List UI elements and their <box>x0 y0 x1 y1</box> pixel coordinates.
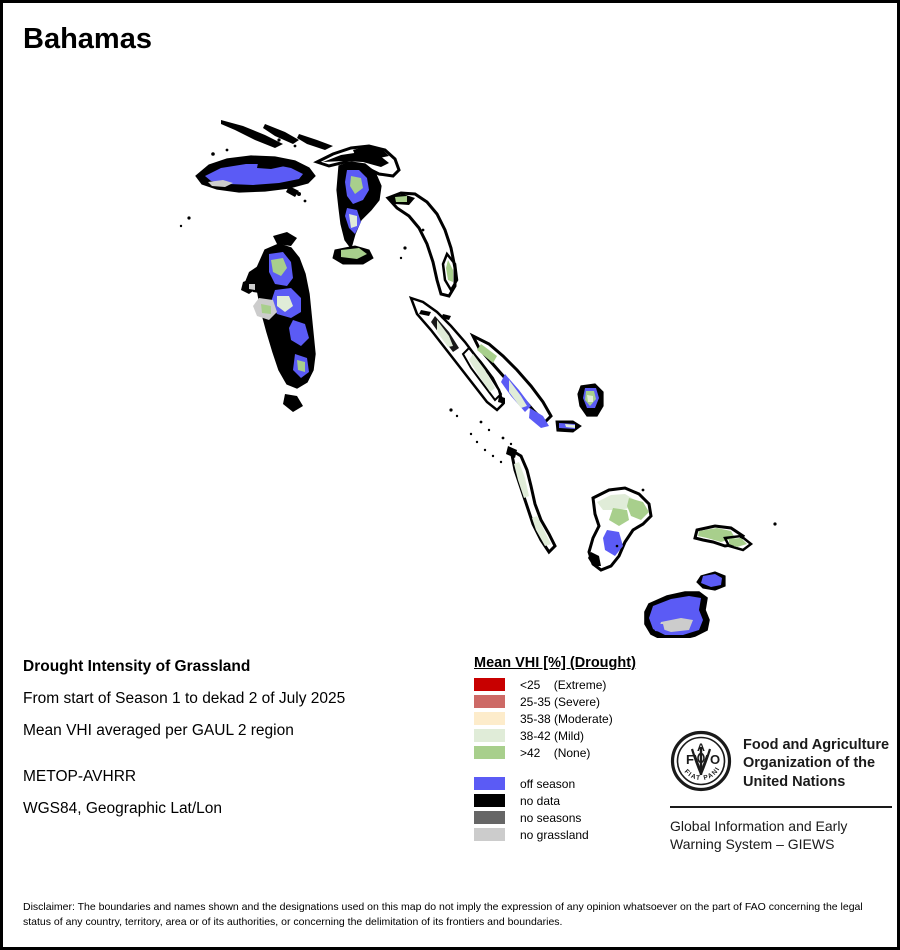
svg-text:A: A <box>697 742 705 754</box>
page-title: Bahamas <box>23 23 152 56</box>
giews-line2: Warning System – GIEWS <box>670 835 892 853</box>
legend-spacer <box>474 761 674 775</box>
legend-swatch-mild <box>474 729 505 742</box>
fao-org-line3: United Nations <box>743 773 889 792</box>
legend-swatch-none <box>474 746 505 759</box>
giews-system-name: Global Information and Early Warning Sys… <box>670 817 892 854</box>
caption-period: From start of Season 1 to dekad 2 of Jul… <box>23 690 453 708</box>
caption-heading: Drought Intensity of Grassland <box>23 658 453 676</box>
legend-label-severe: 25-35 (Severe) <box>520 695 600 709</box>
fao-logo-row: F A O FIAT PANIS Food and Agriculture Or… <box>670 730 892 797</box>
caption-projection: WGS84, Geographic Lat/Lon <box>23 800 453 818</box>
legend-item-moderate[interactable]: 35-38 (Moderate) <box>474 710 674 727</box>
legend-item-no-data[interactable]: no data <box>474 792 674 809</box>
legend-label-no-grassland: no grassland <box>520 828 589 842</box>
legend-item-mild[interactable]: 38-42 (Mild) <box>474 727 674 744</box>
map-canvas[interactable] <box>3 58 897 638</box>
bahamas-map-svg <box>3 58 897 638</box>
legend-item-no-seasons[interactable]: no seasons <box>474 809 674 826</box>
fao-org-line1: Food and Agriculture <box>743 736 889 755</box>
legend-label-extreme: <25 (Extreme) <box>520 678 606 692</box>
legend-swatch-severe <box>474 695 505 708</box>
giews-line1: Global Information and Early <box>670 817 892 835</box>
legend-title: Mean VHI [%] (Drought) <box>474 655 674 671</box>
legend-label-moderate: 35-38 (Moderate) <box>520 712 613 726</box>
legend-item-extreme[interactable]: <25 (Extreme) <box>474 676 674 693</box>
caption-sensor: METOP-AVHRR <box>23 768 453 786</box>
legend-label-no-data: no data <box>520 794 560 808</box>
legend-item-none[interactable]: >42 (None) <box>474 744 674 761</box>
legend-label-none: >42 (None) <box>520 746 590 760</box>
fao-org-line2: Organization of the <box>743 754 889 773</box>
fao-branding-block: F A O FIAT PANIS Food and Agriculture Or… <box>670 730 892 854</box>
legend-swatch-extreme <box>474 678 505 691</box>
fao-emblem-icon: F A O FIAT PANIS <box>670 730 732 797</box>
legend-swatch-no-seasons <box>474 811 505 824</box>
legend-item-off-season[interactable]: off season <box>474 775 674 792</box>
fao-giews-drought-map-page: Bahamas <box>0 0 900 950</box>
disclaimer-text: Disclaimer: The boundaries and names sho… <box>23 900 883 930</box>
legend: Mean VHI [%] (Drought) <25 (Extreme) 25-… <box>474 655 674 843</box>
legend-swatch-off-season <box>474 777 505 790</box>
svg-text:F: F <box>686 752 694 767</box>
legend-label-off-season: off season <box>520 777 575 791</box>
legend-label-no-seasons: no seasons <box>520 811 581 825</box>
caption-block: Drought Intensity of Grassland From star… <box>23 658 453 832</box>
caption-gap <box>23 754 453 768</box>
svg-text:O: O <box>710 752 720 767</box>
legend-item-severe[interactable]: 25-35 (Severe) <box>474 693 674 710</box>
fao-organization-name: Food and Agriculture Organization of the… <box>743 736 889 792</box>
caption-aggregation: Mean VHI averaged per GAUL 2 region <box>23 722 453 740</box>
legend-item-no-grassland[interactable]: no grassland <box>474 826 674 843</box>
legend-swatch-no-data <box>474 794 505 807</box>
legend-label-mild: 38-42 (Mild) <box>520 729 584 743</box>
legend-swatch-moderate <box>474 712 505 725</box>
fao-divider <box>670 806 892 808</box>
legend-swatch-no-grassland <box>474 828 505 841</box>
